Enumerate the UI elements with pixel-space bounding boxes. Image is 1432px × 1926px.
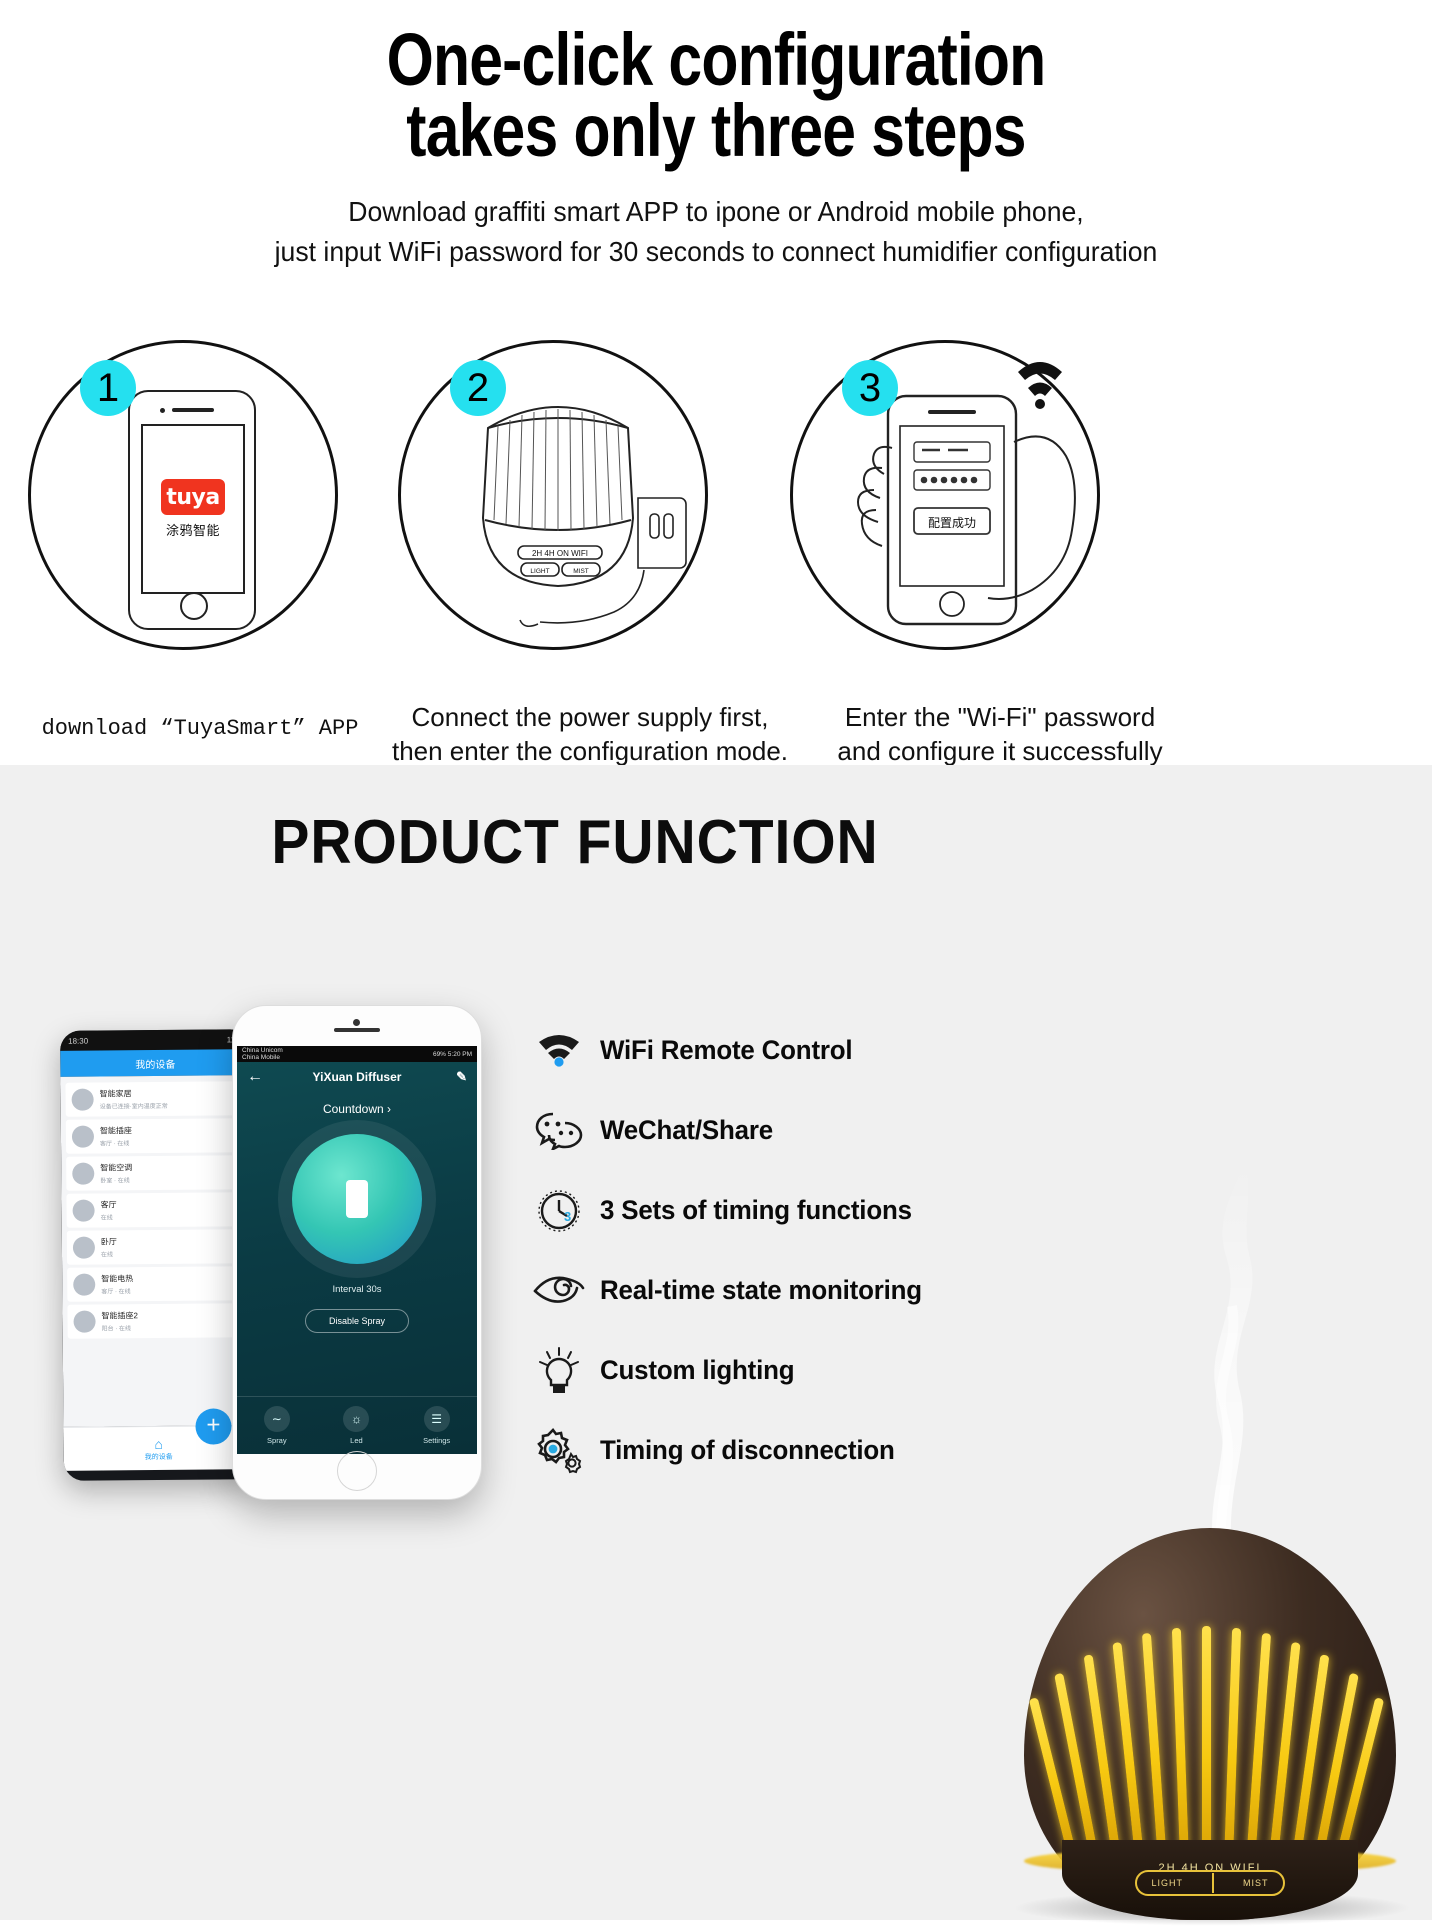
step-3: 3 — [790, 340, 1120, 670]
feature-timing-functions: 3 3 Sets of timing functions — [528, 1180, 925, 1240]
feature-wechat-share: WeChat/Share — [528, 1100, 780, 1160]
front-camera-icon — [160, 408, 165, 413]
step-2-device-mode-labels: 2H 4H ON WIFI — [532, 549, 588, 558]
list-item-subtitle: 客厅 · 在线 — [101, 1285, 241, 1295]
step-3-caption-line-1: Enter the "Wi-Fi" password — [800, 700, 1200, 734]
list-item[interactable]: 智能插座 客厅 · 在线 — [66, 1118, 246, 1154]
ios-status-bar: China Unicom China Mobile 69% 5:20 PM — [237, 1046, 477, 1062]
ios-nav-bar: ← YiXuan Diffuser ✎ — [237, 1062, 477, 1092]
tab-led[interactable]: ☼ Led — [343, 1406, 369, 1445]
earpiece-icon — [334, 1028, 380, 1032]
feature-timing-disconnection: Timing of disconnection — [528, 1420, 907, 1480]
list-item[interactable]: 智能家居 设备已连接·室内温度正常 — [65, 1081, 245, 1117]
step-1-phone-illustration: tuya 涂鸦智能 — [128, 390, 256, 630]
ios-carrier-line-2: China Mobile — [242, 1054, 283, 1061]
list-item[interactable]: 智能电热 客厅 · 在线 — [67, 1266, 247, 1302]
subtitle-line-1: Download graffiti smart APP to ipone or … — [36, 192, 1396, 232]
step-2: 2 — [398, 340, 728, 670]
tab-spray[interactable]: ∼ Spray — [264, 1406, 290, 1445]
feature-label: Custom lighting — [600, 1355, 794, 1386]
tab-led-label: Led — [350, 1436, 363, 1445]
step-1-phone-screen: tuya 涂鸦智能 — [141, 424, 245, 594]
spray-icon: ∼ — [264, 1406, 290, 1432]
tuya-logo-chinese: 涂鸦智能 — [166, 520, 220, 539]
tab-settings-label: Settings — [423, 1436, 450, 1445]
wifi-icon — [528, 1022, 590, 1078]
product-function-title: PRODUCT FUNCTION — [46, 807, 1104, 878]
step-3-success-text: 配置成功 — [928, 516, 976, 530]
interval-label: Interval 30s — [237, 1284, 477, 1295]
svg-text:3: 3 — [564, 1209, 571, 1224]
disable-spray-button[interactable]: Disable Spray — [305, 1309, 409, 1333]
tab-spray-label: Spray — [267, 1436, 287, 1445]
wifi-signal-icon — [1018, 362, 1062, 409]
button-divider — [1212, 1873, 1214, 1893]
step-1-caption-line-1: download “TuyaSmart” APP — [10, 714, 390, 743]
list-item-title: 智能电热 — [101, 1272, 241, 1284]
feature-label: Real-time state monitoring — [600, 1275, 922, 1306]
step-2-badge: 2 — [450, 360, 506, 416]
list-item-subtitle: 设备已连接·室内温度正常 — [100, 1100, 240, 1110]
avatar — [72, 1126, 94, 1148]
feature-wifi-remote-control: WiFi Remote Control — [528, 1020, 863, 1080]
avatar — [72, 1163, 94, 1185]
mist-vapor — [1140, 1160, 1310, 1580]
list-item-title: 智能空调 — [100, 1161, 240, 1173]
led-icon: ☼ — [343, 1406, 369, 1432]
step-1: 1 tuya 涂鸦智能 — [28, 340, 358, 670]
list-item-subtitle: 客厅 · 在线 — [100, 1137, 240, 1147]
step-3-caption: Enter the "Wi-Fi" password and configure… — [800, 700, 1200, 769]
step-3-caption-line-2: and configure it successfully — [800, 734, 1200, 768]
ios-carrier-line-1: China Unicom — [242, 1047, 283, 1054]
android-bottom-nav: ⌂ 我的设备 + — [63, 1425, 253, 1471]
add-device-button[interactable]: + — [195, 1408, 231, 1444]
lightbulb-icon — [528, 1342, 590, 1398]
list-item-title: 卧厅 — [101, 1235, 241, 1247]
avatar — [73, 1274, 95, 1296]
eye-icon — [528, 1262, 590, 1318]
android-tab-home[interactable]: ⌂ 我的设备 — [145, 1435, 173, 1461]
ios-bottom-tabs: ∼ Spray ☼ Led ☰ Settings — [237, 1396, 477, 1454]
tuya-app-icon: tuya — [161, 479, 225, 515]
step-1-caption: download “TuyaSmart” APP — [10, 714, 390, 743]
android-status-time: 18:30 — [68, 1036, 88, 1045]
ios-phone-mockup: China Unicom China Mobile 69% 5:20 PM ← … — [232, 1005, 482, 1500]
ios-phone-top — [233, 1006, 481, 1046]
list-item-title: 客厅 — [101, 1198, 241, 1210]
feature-label: WiFi Remote Control — [600, 1035, 852, 1066]
earpiece-icon — [172, 408, 214, 412]
android-tab-home-label: 我的设备 — [145, 1453, 173, 1460]
back-arrow-icon[interactable]: ← — [247, 1068, 263, 1086]
step-2-caption-line-2: then enter the configuration mode. — [390, 734, 790, 768]
ios-clock: 5:20 PM — [448, 1051, 472, 1058]
list-item-subtitle: 阳台 · 在线 — [102, 1322, 242, 1332]
list-item-title: 智能插座2 — [101, 1309, 241, 1321]
list-item-subtitle: 在线 — [101, 1248, 241, 1258]
avatar — [72, 1089, 94, 1111]
feature-realtime-monitoring: Real-time state monitoring — [528, 1260, 935, 1320]
step-2-light-button-label: LIGHT — [530, 568, 549, 575]
diffuser-light-button[interactable]: LIGHT — [1151, 1878, 1183, 1888]
page-title: One-click configuration takes only three… — [129, 24, 1303, 166]
list-item-subtitle: 在线 — [101, 1211, 241, 1221]
list-item[interactable]: 智能插座2 阳台 · 在线 — [67, 1303, 247, 1339]
ios-home-button[interactable] — [337, 1451, 377, 1491]
list-item[interactable]: 客厅 在线 — [66, 1192, 246, 1228]
step-2-caption: Connect the power supply first, then ent… — [390, 700, 790, 769]
ios-carrier: China Unicom China Mobile — [242, 1047, 283, 1061]
home-button-icon — [180, 592, 208, 620]
list-item[interactable]: 智能空调 卧室 · 在线 — [66, 1155, 246, 1191]
diffuser-control-buttons[interactable]: LIGHT MIST — [1135, 1870, 1285, 1896]
avatar — [73, 1311, 95, 1333]
android-app-header: 我的设备 — [60, 1049, 250, 1077]
step-2-mist-button-label: MIST — [573, 568, 589, 575]
gears-icon — [528, 1422, 590, 1478]
subtitle-line-2: just input WiFi password for 30 seconds … — [36, 232, 1396, 272]
ios-battery-percent: 69% — [433, 1051, 446, 1058]
ios-nav-title: YiXuan Diffuser — [237, 1070, 477, 1084]
configuration-steps-section: One-click configuration takes only three… — [0, 0, 1432, 765]
feature-label: 3 Sets of timing functions — [600, 1195, 912, 1226]
edit-pencil-icon[interactable]: ✎ — [456, 1069, 467, 1085]
avatar — [73, 1237, 95, 1259]
headline-line-2: takes only three steps — [129, 95, 1303, 166]
list-item-title: 智能家居 — [100, 1087, 240, 1099]
android-device-list: 智能家居 设备已连接·室内温度正常 智能插座 客厅 · 在线 智能空调 卧室 ·… — [60, 1075, 253, 1427]
wechat-icon — [528, 1102, 590, 1158]
ios-status-right: 69% 5:20 PM — [433, 1051, 472, 1058]
list-item-subtitle: 卧室 · 在线 — [100, 1174, 240, 1184]
page-subtitle: Download graffiti smart APP to ipone or … — [36, 192, 1396, 272]
diffuser-product-image: 2H 4H ON WIFI LIGHT MIST — [972, 1160, 1432, 1920]
step-3-badge: 3 — [842, 360, 898, 416]
tuya-logo-text: tuya — [166, 485, 219, 510]
front-camera-icon — [353, 1019, 360, 1026]
android-phone-mockup: 18:30 11% 我的设备 智能家居 设备已连接·室内温度正常 智能插座 客厅… — [60, 1029, 254, 1481]
step-2-caption-line-1: Connect the power supply first, — [390, 700, 790, 734]
clock-icon: 3 — [528, 1182, 590, 1238]
ios-app-screen: China Unicom China Mobile 69% 5:20 PM ← … — [237, 1046, 477, 1454]
settings-icon: ☰ — [424, 1406, 450, 1432]
feature-label: Timing of disconnection — [600, 1435, 895, 1466]
avatar — [73, 1200, 95, 1222]
home-icon: ⌂ — [145, 1435, 173, 1451]
dial-knob-icon — [346, 1180, 368, 1218]
list-item-title: 智能插座 — [100, 1124, 240, 1136]
diffuser-mist-button[interactable]: MIST — [1243, 1878, 1269, 1888]
spray-power-dial[interactable] — [292, 1134, 422, 1264]
feature-custom-lighting: Custom lighting — [528, 1340, 802, 1400]
tab-settings[interactable]: ☰ Settings — [423, 1406, 450, 1445]
step-1-badge: 1 — [80, 360, 136, 416]
list-item[interactable]: 卧厅 在线 — [67, 1229, 247, 1265]
countdown-link[interactable]: Countdown › — [237, 1102, 477, 1116]
feature-label: WeChat/Share — [600, 1115, 773, 1146]
android-status-bar: 18:30 11% — [60, 1029, 250, 1051]
steps-row: 1 tuya 涂鸦智能 2 — [0, 340, 1432, 670]
